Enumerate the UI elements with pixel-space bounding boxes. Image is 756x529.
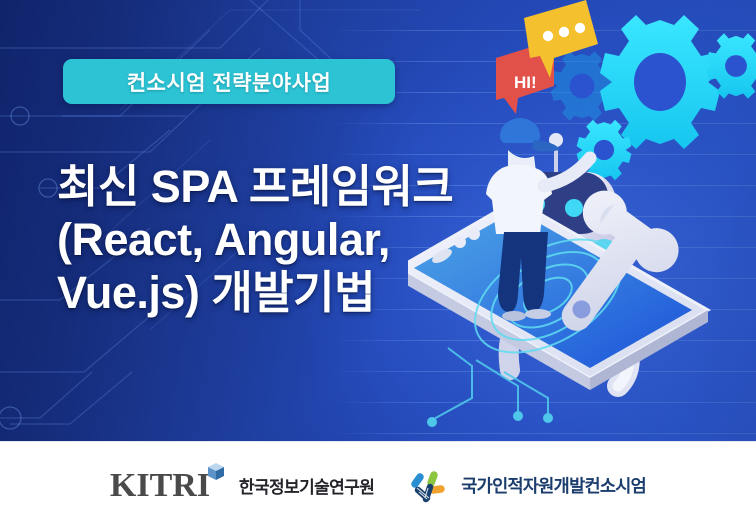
blue-cube-icon <box>206 462 226 482</box>
category-badge-label: 컨소시엄 전략분야사업 <box>127 67 332 97</box>
kitri-wordmark: KITRI <box>110 467 210 504</box>
course-title-line-1: 최신 SPA 프레임워크 <box>57 160 657 213</box>
course-title-line-3: Vue.js) 개발기법 <box>57 266 657 319</box>
category-badge: 컨소시엄 전략분야사업 <box>63 59 395 104</box>
phone-circuit-trace <box>432 348 548 420</box>
kitri-logo-group: KITRI 한국정보기술연구원 <box>110 464 374 508</box>
course-title-line-2: (React, Angular, <box>57 213 657 266</box>
course-title: 최신 SPA 프레임워크 (React, Angular, Vue.js) 개발… <box>57 160 657 319</box>
promo-banner: HI! <box>0 0 756 529</box>
pinwheel-icon <box>408 465 450 507</box>
hrd-logo-group: 국가인적자원개발컨소시엄 <box>408 465 646 507</box>
kitri-organization-name: 한국정보기술연구원 <box>239 473 374 498</box>
hrd-organization-name: 국가인적자원개발컨소시엄 <box>461 473 646 498</box>
kitri-logo-mark: KITRI <box>110 464 228 508</box>
speech-bubble-red-text: HI! <box>514 73 537 92</box>
footer-logos: KITRI 한국정보기술연구원 <box>0 441 756 529</box>
